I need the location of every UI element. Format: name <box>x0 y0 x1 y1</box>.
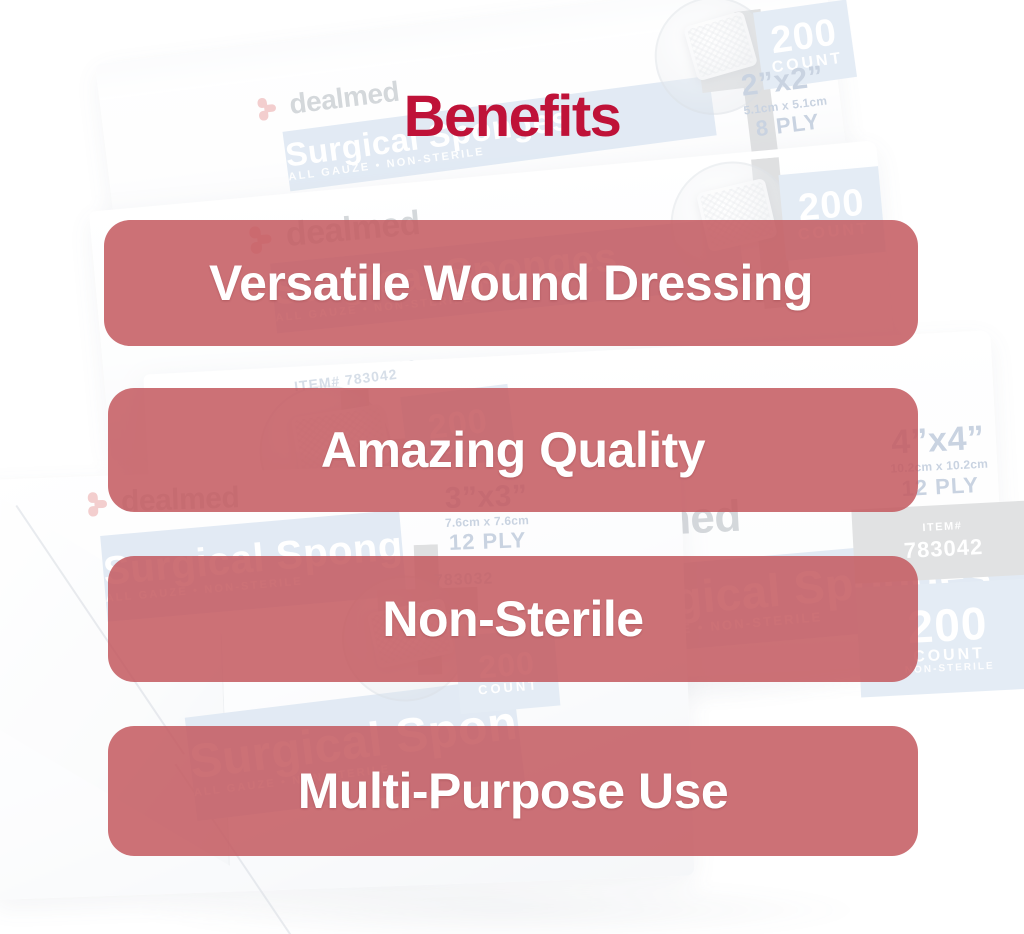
count-value: 200 <box>906 600 988 650</box>
benefit-pill-4[interactable]: Multi-Purpose Use <box>108 726 918 856</box>
benefit-pill-3[interactable]: Non-Sterile <box>108 556 918 682</box>
benefits-graphic: dealmed Surgical Sponges ALL GAUZE • NON… <box>0 0 1024 934</box>
dealmed-mark-icon <box>81 488 112 519</box>
benefit-pill-2[interactable]: Amazing Quality <box>108 388 918 512</box>
item-number: 783042 <box>903 533 984 565</box>
benefit-pill-1[interactable]: Versatile Wound Dressing <box>104 220 918 346</box>
page-title: Benefits <box>0 88 1024 146</box>
sterility-label: NON-STERILE <box>905 661 995 676</box>
benefit-pill-1-label: Versatile Wound Dressing <box>209 258 813 308</box>
ply-value: 12 PLY <box>412 526 563 557</box>
benefit-pill-4-label: Multi-Purpose Use <box>298 766 728 816</box>
benefit-pill-2-label: Amazing Quality <box>321 425 705 475</box>
benefit-pill-3-label: Non-Sterile <box>382 594 643 644</box>
